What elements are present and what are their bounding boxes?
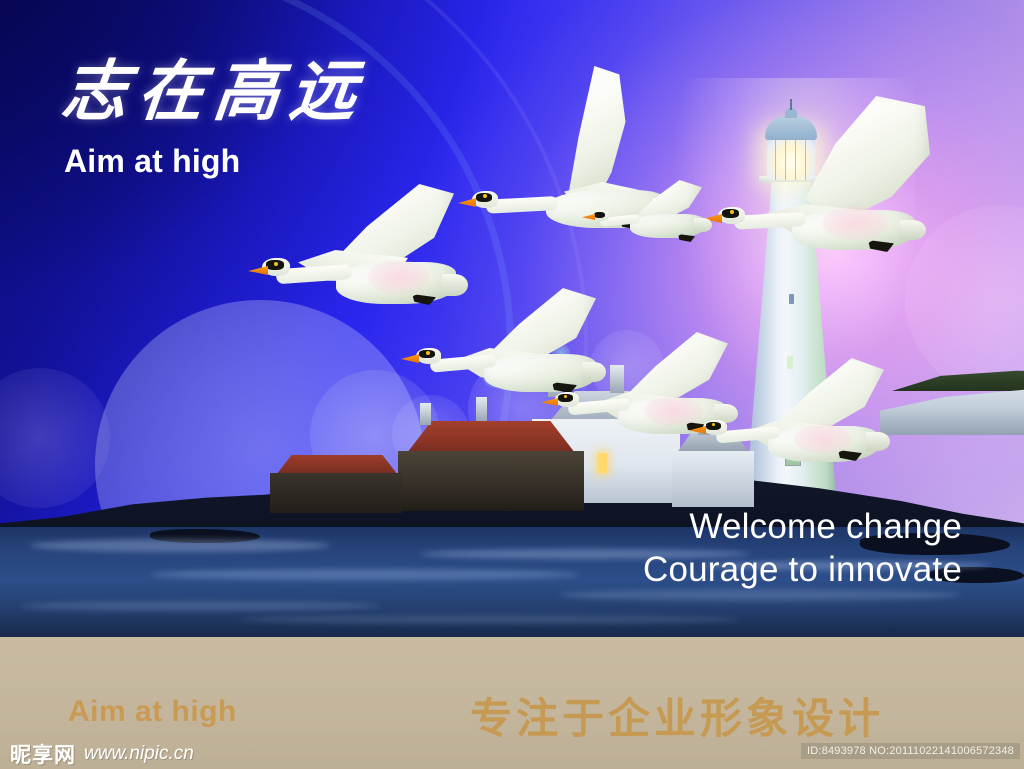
lighthouse-window [787,356,793,369]
swan-tail [694,218,712,232]
footer-english-tagline: Aim at high [68,695,237,729]
image-id-badge: ID:8493978 NO:20111022141006572348 [801,743,1020,759]
swan-eye [730,210,734,214]
watermark-logo-text: 昵享网 [10,739,76,769]
lighthouse-spike [790,99,792,110]
outbuilding [270,473,402,513]
swan-beak [248,266,268,275]
lighthouse-window [789,294,794,304]
lighthouse-dome [765,116,817,140]
lit-window [598,453,607,473]
swan-tail [866,432,890,451]
footer-bar: Aim at high 专注于企业形象设计 昵享网 www.nipic.cn I… [0,637,1024,769]
swan-eye [426,351,430,355]
swan-eye [712,423,715,426]
swan-tail [900,220,926,240]
scene-photo: 志在高远 Aim at high Welcome change Courage … [0,0,1024,637]
swan-tail [442,274,468,296]
watermark-url: www.nipic.cn [84,743,194,765]
slogan-line-2: Courage to innovate [643,549,962,592]
swan-body [630,214,704,238]
wave-foam [20,601,380,611]
stone-cottage [398,451,584,511]
swan-face-mask [594,212,605,218]
swan-eye [564,395,567,398]
watermark: 昵享网 www.nipic.cn [10,739,194,769]
swan-highlight [368,260,430,294]
swan-eye [483,194,487,198]
wave-foam [30,539,330,552]
headline-chinese-calligraphy: 志在高远 [59,58,370,124]
wave-foam [150,569,580,580]
swan [606,186,716,246]
headline-english: Aim at high [64,143,240,180]
slogan-line-1: Welcome change [643,506,962,549]
swan-highlight [794,424,852,454]
swan-highlight [822,206,888,240]
swan-highlight [644,396,702,426]
swan [700,374,900,484]
footer-chinese-tagline: 专注于企业形象设计 [470,685,884,746]
poster-canvas: 志在高远 Aim at high Welcome change Courage … [0,0,1024,769]
swan [706,150,936,280]
slogan-block: Welcome change Courage to innovate [643,506,962,591]
wave-foam [240,615,740,624]
swan-eye [274,262,278,266]
